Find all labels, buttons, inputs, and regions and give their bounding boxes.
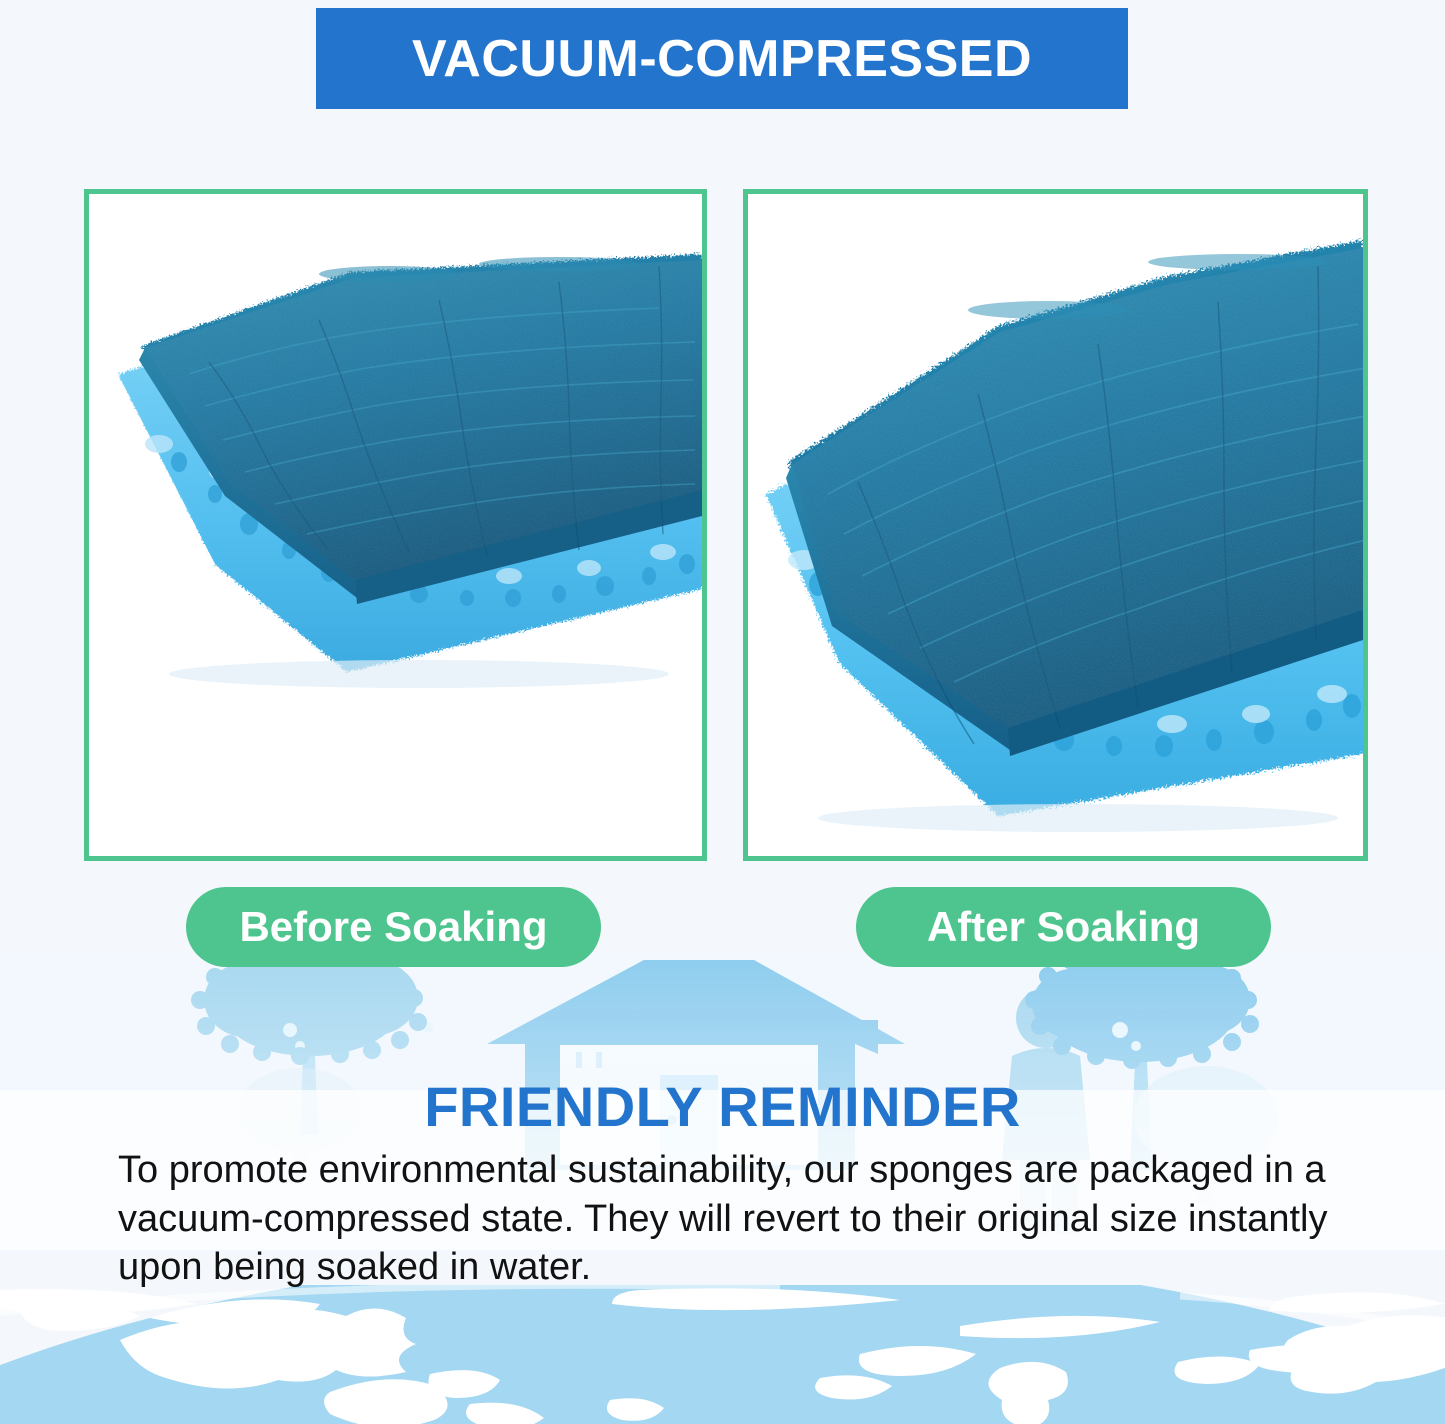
infographic-page: VACUUM-COMPRESSED bbox=[0, 0, 1445, 1424]
after-soaking-caption-label: After Soaking bbox=[927, 906, 1200, 948]
friendly-reminder-section: FRIENDLY REMINDER bbox=[0, 1078, 1445, 1137]
after-soaking-photo-frame bbox=[743, 189, 1368, 861]
before-soaking-photo bbox=[89, 194, 702, 856]
before-soaking-caption-pill: Before Soaking bbox=[186, 887, 601, 967]
before-soaking-caption-label: Before Soaking bbox=[239, 906, 547, 948]
header-banner-title: VACUUM-COMPRESSED bbox=[412, 33, 1032, 85]
before-soaking-photo-frame bbox=[84, 189, 707, 861]
after-soaking-photo bbox=[748, 194, 1363, 856]
friendly-reminder-body-text: To promote environmental sustainability,… bbox=[118, 1146, 1333, 1292]
after-soaking-caption-pill: After Soaking bbox=[856, 887, 1271, 967]
friendly-reminder-title: FRIENDLY REMINDER bbox=[0, 1078, 1445, 1137]
header-banner: VACUUM-COMPRESSED bbox=[316, 8, 1128, 109]
